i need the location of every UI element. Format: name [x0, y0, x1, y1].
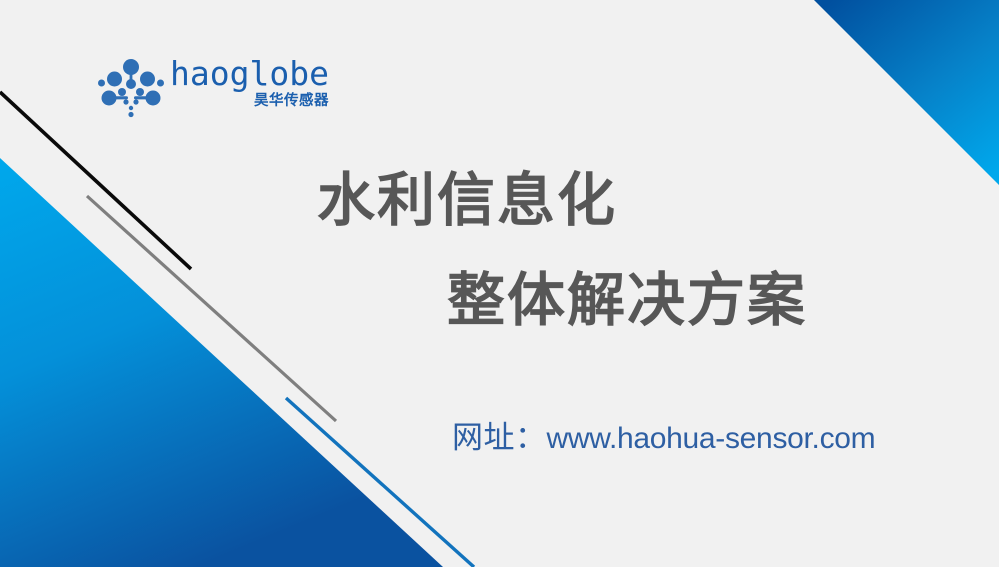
molecular-network-logo-icon: [98, 58, 164, 120]
website-line: 网址：www.haohua-sensor.com: [452, 418, 875, 459]
top-right-blue-triangle: [814, 0, 999, 185]
website-url[interactable]: www.haohua-sensor.com: [547, 422, 876, 455]
logo-wordmark: haoglobe: [170, 56, 329, 92]
logo-text-block: haoglobe 昊华传感器: [170, 56, 329, 110]
company-logo[interactable]: haoglobe 昊华传感器: [98, 56, 313, 122]
left-blue-triangle: [0, 158, 443, 567]
presentation-title-slide: haoglobe 昊华传感器 水利信息化 整体解决方案 网址：www.haohu…: [0, 0, 999, 567]
website-label: 网址：: [452, 420, 547, 456]
logo-chinese-name: 昊华传感器: [254, 93, 329, 110]
